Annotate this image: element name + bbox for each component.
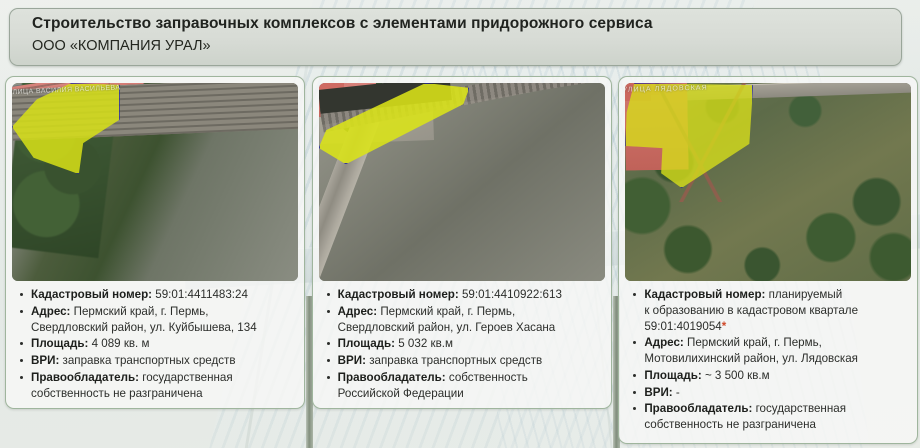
satellite-map-3[interactable]: УЛИЦА ЛЯДОВСКАЯ	[625, 83, 911, 281]
value-address-line1: Пермский край, г. Пермь,	[74, 305, 209, 318]
plot-1-cadastral-number: Кадастровый номер: 59:01:4411483:24	[16, 287, 296, 303]
plot-cards-container: УЛИЦА ВАСИЛИЯ ВАСИЛЬЕВА ПЕРЕУЛОК Кадастр…	[0, 76, 920, 448]
company-name: ООО «КОМПАНИЯ УРАЛ»	[32, 37, 901, 57]
label-cadastral-number: Кадастровый номер:	[338, 288, 459, 301]
value-rightholder-line2: собственность не разграничена	[31, 387, 203, 400]
plot-1-address: Адрес: Пермский край, г. Пермь, Свердлов…	[16, 304, 296, 336]
cadastral-number-asterisk: *	[722, 320, 727, 333]
plot-3-vri: ВРИ: -	[629, 385, 909, 401]
value-address-line1: Пермский край, г. Пермь,	[687, 336, 822, 349]
value-address-line2: Свердловский район, ул. Героев Хасана	[338, 321, 556, 334]
plot-1-area: Площадь: 4 089 кв. м	[16, 336, 296, 352]
value-area: ~ 3 500 кв.м	[705, 369, 770, 382]
value-rightholder-line1: государственная	[142, 371, 232, 384]
value-rightholder-line2: Российской Федерации	[338, 387, 464, 400]
plot-1-facts-list: Кадастровый номер: 59:01:4411483:24 Адре…	[12, 287, 298, 401]
value-address-line2: Свердловский район, ул. Куйбышева, 134	[31, 321, 257, 334]
label-cadastral-number: Кадастровый номер:	[644, 288, 765, 301]
plot-3-area: Площадь: ~ 3 500 кв.м	[629, 368, 909, 384]
plot-1-vri: ВРИ: заправка транспортных средств	[16, 353, 296, 369]
plot-card-1: УЛИЦА ВАСИЛИЯ ВАСИЛЬЕВА ПЕРЕУЛОК Кадастр…	[2, 76, 305, 448]
value-cadastral-number-line1: планируемый	[769, 288, 843, 301]
plot-3-address: Адрес: Пермский край, г. Пермь, Мотовили…	[629, 335, 909, 367]
plot-3-facts-list: Кадастровый номер: планируемый к образов…	[625, 287, 911, 433]
plot-card-2: Кадастровый номер: 59:01:4410922:613 Адр…	[309, 76, 612, 448]
value-cadastral-number: 59:01:4410922:613	[462, 288, 562, 301]
plot-2-rightholder: Правообладатель: собственность Российско…	[323, 370, 603, 402]
value-vri: заправка транспортных средств	[369, 354, 542, 367]
map3-street-label: УЛИЦА ЛЯДОВСКАЯ	[625, 83, 911, 281]
value-rightholder-line2: собственность не разграничена	[644, 418, 816, 431]
plot-card-3: УЛИЦА ЛЯДОВСКАЯ Кадастровый номер: плани…	[615, 76, 918, 448]
value-rightholder-line1: государственная	[756, 402, 846, 415]
satellite-map-1[interactable]: УЛИЦА ВАСИЛИЯ ВАСИЛЬЕВА ПЕРЕУЛОК	[12, 83, 298, 281]
label-vri: ВРИ:	[338, 354, 366, 367]
plot-2-address: Адрес: Пермский край, г. Пермь, Свердлов…	[323, 304, 603, 336]
plot-card-1-shell: УЛИЦА ВАСИЛИЯ ВАСИЛЬЕВА ПЕРЕУЛОК Кадастр…	[5, 76, 305, 409]
plot-1-rightholder: Правообладатель: государственная собстве…	[16, 370, 296, 402]
plot-3-rightholder: Правообладатель: государственная собстве…	[629, 401, 909, 433]
plot-2-vri: ВРИ: заправка транспортных средств	[323, 353, 603, 369]
satellite-map-2[interactable]	[319, 83, 605, 281]
label-area: Площадь:	[338, 337, 395, 350]
label-address: Адрес:	[31, 305, 70, 318]
header-banner: Строительство заправочных комплексов с э…	[9, 8, 902, 66]
label-rightholder: Правообладатель:	[644, 402, 752, 415]
value-vri: заправка транспортных средств	[63, 354, 236, 367]
value-area: 5 032 кв.м	[398, 337, 453, 350]
value-cadastral-number-line2: к образованию в кадастровом квартале	[644, 304, 858, 317]
label-vri: ВРИ:	[31, 354, 59, 367]
label-area: Площадь:	[644, 369, 701, 382]
value-rightholder-line1: собственность	[449, 371, 528, 384]
plot-2-cadastral-number: Кадастровый номер: 59:01:4410922:613	[323, 287, 603, 303]
value-cadastral-number-line3: 59:01:4019054	[644, 320, 721, 333]
plot-3-cadastral-number: Кадастровый номер: планируемый к образов…	[629, 287, 909, 334]
plot-2-area: Площадь: 5 032 кв.м	[323, 336, 603, 352]
value-address-line1: Пермский край, г. Пермь,	[380, 305, 515, 318]
page-title: Строительство заправочных комплексов с э…	[32, 14, 901, 34]
label-address: Адрес:	[644, 336, 683, 349]
plot-card-2-shell: Кадастровый номер: 59:01:4410922:613 Адр…	[312, 76, 612, 409]
label-area: Площадь:	[31, 337, 88, 350]
value-cadastral-number: 59:01:4411483:24	[155, 288, 248, 301]
label-vri: ВРИ:	[644, 386, 672, 399]
value-vri: -	[676, 386, 680, 399]
plot-2-facts-list: Кадастровый номер: 59:01:4410922:613 Адр…	[319, 287, 605, 401]
label-rightholder: Правообладатель:	[31, 371, 139, 384]
plot-card-3-shell: УЛИЦА ЛЯДОВСКАЯ Кадастровый номер: плани…	[618, 76, 918, 444]
value-area: 4 089 кв. м	[92, 337, 150, 350]
label-rightholder: Правообладатель:	[338, 371, 446, 384]
label-cadastral-number: Кадастровый номер:	[31, 288, 152, 301]
label-address: Адрес:	[338, 305, 377, 318]
value-address-line2: Мотовилихинский район, ул. Лядовская	[644, 352, 858, 365]
